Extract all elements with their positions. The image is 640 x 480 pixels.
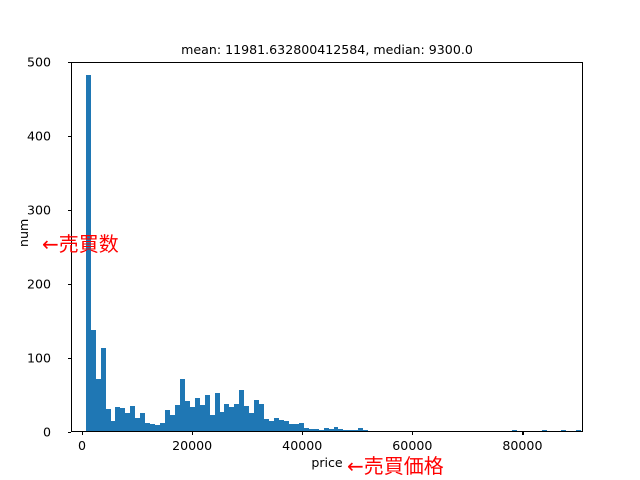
x-tick-mark: [302, 431, 303, 435]
annotation-x-axis: ←売買価格: [347, 450, 444, 479]
x-tick-label: 0: [78, 438, 86, 453]
histogram-bar: [576, 430, 581, 431]
histogram-bars: [72, 63, 582, 431]
histogram-bar: [363, 430, 368, 431]
x-tick-mark: [412, 431, 413, 435]
histogram-bar: [542, 430, 547, 431]
matplotlib-figure: mean: 11981.632800412584, median: 9300.0…: [0, 0, 640, 480]
y-tick-label: 200: [27, 277, 57, 292]
y-tick-label: 0: [43, 425, 57, 440]
y-tick-label: 300: [27, 203, 57, 218]
x-tick-mark: [82, 431, 83, 435]
x-tick-label: 20000: [172, 438, 212, 453]
histogram-bar: [512, 430, 517, 431]
histogram-bar: [561, 430, 566, 431]
x-tick-label: 80000: [502, 438, 542, 453]
x-tick-mark: [522, 431, 523, 435]
x-tick-mark: [192, 431, 193, 435]
x-tick-label: 40000: [282, 438, 322, 453]
y-tick-label: 100: [27, 351, 57, 366]
x-axis-label: price: [311, 455, 342, 470]
chart-title: mean: 11981.632800412584, median: 9300.0: [71, 42, 583, 57]
y-tick-mark: [68, 432, 72, 433]
y-tick-label: 500: [27, 55, 57, 70]
y-axis-label: num: [16, 219, 31, 247]
annotation-y-axis: ←売買数: [42, 228, 119, 257]
plot-axes-frame: [71, 62, 583, 432]
y-tick-label: 400: [27, 129, 57, 144]
